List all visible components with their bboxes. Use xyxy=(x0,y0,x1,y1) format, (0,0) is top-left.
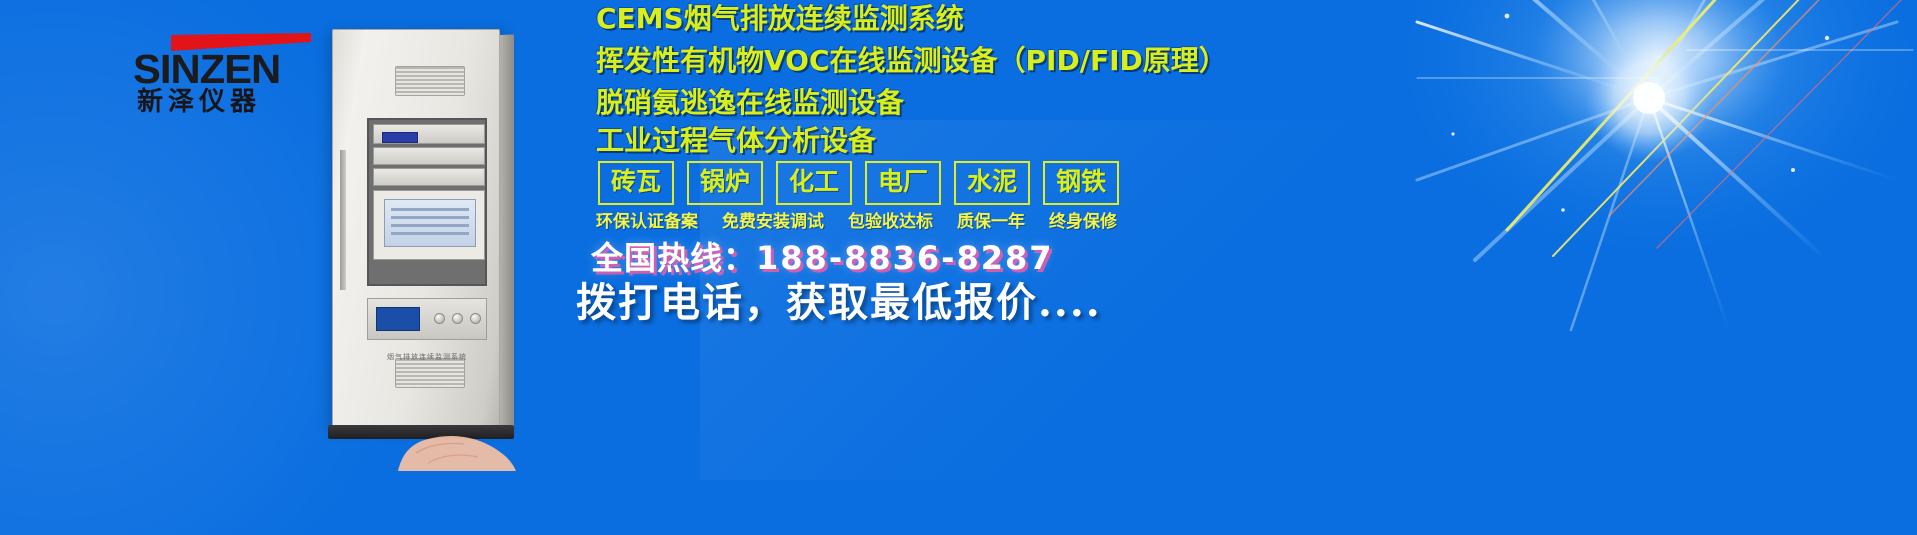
headline-3: 脱硝氨逃逸在线监测设备 xyxy=(596,88,904,118)
call-to-action[interactable]: 拨打电话，获取最低报价.... xyxy=(576,278,1102,328)
hand-graphic xyxy=(394,423,518,471)
cabinet-vent-bottom xyxy=(395,358,465,388)
guarantee-item: 免费安装调试 xyxy=(722,211,824,233)
rack-analyzer-1 xyxy=(373,124,485,144)
logo-chinese-name: 新泽仪器 xyxy=(137,89,317,115)
industry-tag-list: 砖瓦 锅炉 化工 电厂 水泥 钢铁 xyxy=(598,161,1119,205)
cabinet-body: 烟气排放连续监测系统 xyxy=(332,29,500,429)
hotline[interactable]: 全国热线：188-8836-8287 xyxy=(591,238,1054,278)
rack-control-panel xyxy=(373,190,485,260)
industry-tag[interactable]: 钢铁 xyxy=(1043,161,1119,205)
cabinet-controller-unit xyxy=(367,298,487,340)
company-logo[interactable]: SINZEN 新泽仪器 xyxy=(133,33,313,115)
industry-tag[interactable]: 电厂 xyxy=(865,161,941,205)
cabinet-instrument-bay xyxy=(367,118,487,286)
product-photo-cems-cabinet: 烟气排放连续监测系统 xyxy=(322,25,522,445)
industry-tag[interactable]: 水泥 xyxy=(954,161,1030,205)
guarantee-item: 质保一年 xyxy=(957,211,1025,233)
controller-knob-3 xyxy=(470,313,481,324)
industry-tag[interactable]: 砖瓦 xyxy=(598,161,674,205)
guarantee-item: 终身保修 xyxy=(1049,211,1117,233)
rack-analyzer-2 xyxy=(373,147,485,165)
cabinet-hinge xyxy=(340,150,346,290)
logo-wordmark: SINZEN xyxy=(133,49,317,90)
controller-screen xyxy=(376,307,420,331)
guarantee-item: 环保认证备案 xyxy=(596,211,698,233)
rack-analyzer-3 xyxy=(373,168,485,186)
cabinet-side-panel xyxy=(500,35,514,427)
controller-knob-2 xyxy=(452,313,463,324)
cabinet-vent-top xyxy=(395,66,465,96)
industry-tag[interactable]: 化工 xyxy=(776,161,852,205)
cabinet-caption: 烟气排放连续监测系统 xyxy=(365,352,489,362)
control-panel-screen xyxy=(384,199,476,247)
hotline-label: 全国热线： xyxy=(591,239,756,277)
industry-tag[interactable]: 锅炉 xyxy=(687,161,763,205)
guarantee-item: 包验收达标 xyxy=(848,211,933,233)
headline-4: 工业过程气体分析设备 xyxy=(596,126,876,156)
promo-banner: SINZEN 新泽仪器 xyxy=(0,0,1917,535)
analyzer-display xyxy=(382,132,418,143)
headline-2: 挥发性有机物VOC在线监测设备（PID/FID原理） xyxy=(596,46,1227,76)
controller-knob-1 xyxy=(434,313,445,324)
guarantee-list: 环保认证备案 免费安装调试 包验收达标 质保一年 终身保修 xyxy=(596,211,1117,233)
copy-block: CEMS烟气排放连续监测系统 挥发性有机物VOC在线监测设备（PID/FID原理… xyxy=(596,0,1776,535)
hotline-number[interactable]: 188-8836-8287 xyxy=(756,239,1053,277)
headline-1: CEMS烟气排放连续监测系统 xyxy=(596,4,964,34)
